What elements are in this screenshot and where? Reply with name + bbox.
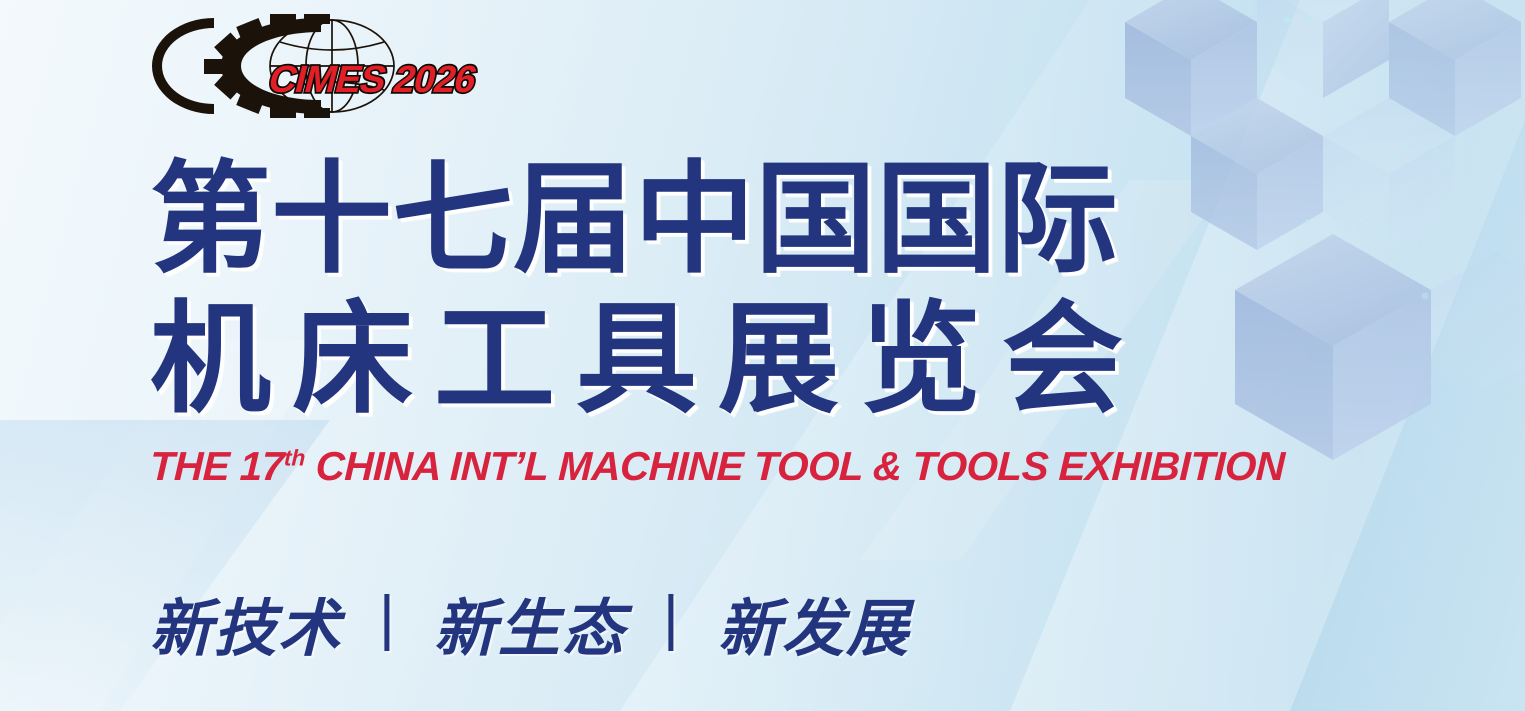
- svg-text:CIMES 2026: CIMES 2026: [264, 59, 481, 101]
- tagline-item-2: 新生态: [434, 592, 626, 665]
- cimes-wordmark: CIMES 2026: [264, 59, 481, 101]
- tagline-item-1: 新技术: [150, 592, 342, 665]
- cimes-2026-banner: CIMES 2026 第十七届中国国际 机床工具展览会 THE 17th CHI…: [0, 0, 1525, 711]
- subtitle-rest: CHINA INT’L MACHINE TOOL & TOOLS EXHIBIT…: [304, 443, 1285, 489]
- subtitle-ordinal-suffix: th: [284, 445, 306, 471]
- headline-block: 第十七届中国国际 机床工具展览会 THE 17th CHINA INT’L MA…: [150, 152, 1230, 490]
- tagline-separator-2: 丨: [626, 574, 718, 664]
- title-line-2: 机床工具展览会: [150, 292, 1230, 428]
- cimes-logo: CIMES 2026: [146, 14, 486, 118]
- tagline-item-3: 新发展: [718, 592, 910, 665]
- title-line-1: 第十七届中国国际: [150, 152, 1230, 288]
- cimes-gear-globe-logo: CIMES 2026: [146, 14, 486, 118]
- tagline: 新技术丨新生态丨新发展: [150, 578, 910, 668]
- tagline-separator-1: 丨: [342, 574, 434, 664]
- subtitle-prefix: THE 17: [149, 443, 284, 489]
- english-subtitle: THE 17th CHINA INT’L MACHINE TOOL & TOOL…: [149, 443, 1231, 490]
